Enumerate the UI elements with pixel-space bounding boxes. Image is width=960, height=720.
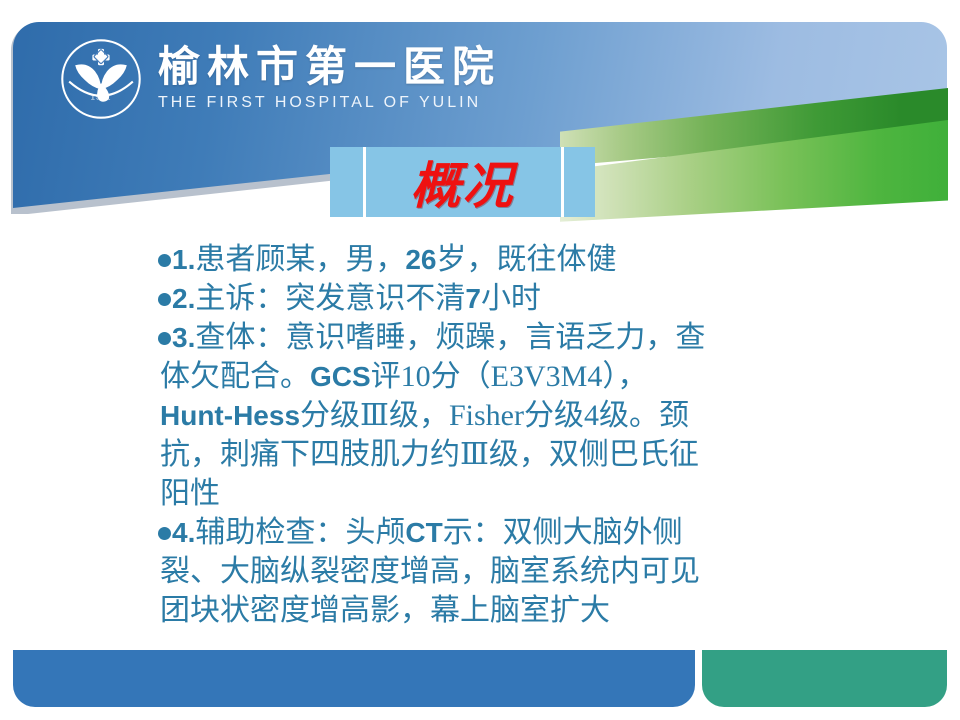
body-latin-segment: 7 bbox=[465, 283, 481, 314]
body-text-segment: 患者顾某，男， bbox=[195, 243, 405, 276]
svg-text:1951: 1951 bbox=[91, 93, 112, 102]
slide-body: 1.患者顾某，男，26岁，既往体健2.主诉：突发意识不清7小时3.查体：意识嗜睡… bbox=[158, 240, 818, 630]
bullet-dot-icon bbox=[158, 254, 171, 267]
body-text-segment: 示：双侧大脑外侧 bbox=[443, 516, 683, 549]
body-bullet-line: 3.查体：意识嗜睡，烦躁，言语乏力，查 bbox=[158, 318, 818, 357]
bullet-dot-icon bbox=[158, 332, 171, 345]
body-text-segment: 主诉：突发意识不清 bbox=[195, 282, 465, 315]
list-number: 4. bbox=[172, 517, 195, 548]
body-bullet-line: 4.辅助检查：头颅CT示：双侧大脑外侧 bbox=[158, 513, 818, 552]
list-number: 2. bbox=[172, 283, 195, 314]
title-divider-left bbox=[363, 147, 366, 217]
list-number: 3. bbox=[172, 322, 195, 353]
body-text-segment: 辅助检查：头颅 bbox=[195, 516, 405, 549]
body-text-segment: 团块状密度增高影，幕上脑室扩大 bbox=[160, 594, 610, 627]
body-bullet-line: 2.主诉：突发意识不清7小时 bbox=[158, 279, 818, 318]
body-latin-segment: CT bbox=[405, 517, 442, 548]
hospital-name-en: THE FIRST HOSPITAL OF YULIN bbox=[158, 95, 501, 111]
body-latin-segment: 26 bbox=[405, 244, 436, 275]
bullet-dot-icon bbox=[158, 293, 171, 306]
body-continuation-line: 体欠配合。GCS评10分（E3V3M4）， bbox=[158, 357, 818, 396]
body-continuation-line: 抗，刺痛下四肢肌力约Ⅲ级，双侧巴氏征 bbox=[158, 435, 818, 474]
footer-bar-teal bbox=[702, 650, 947, 707]
body-text-segment: 查体：意识嗜睡，烦躁，言语乏力，查 bbox=[195, 321, 705, 354]
body-text-segment: 岁，既往体健 bbox=[437, 243, 617, 276]
presentation-slide: 1951 榆林市第一医院 THE FIRST HOSPITAL OF YULIN… bbox=[0, 0, 960, 720]
body-text-segment: 体欠配合。 bbox=[160, 360, 310, 393]
body-continuation-line: Hunt-Hess分级Ⅲ级，Fisher分级4级。颈 bbox=[158, 396, 818, 435]
page-title: 概况 bbox=[411, 146, 515, 218]
body-text-segment: 裂、大脑纵裂密度增高，脑室系统内可见 bbox=[160, 555, 700, 588]
hospital-logo-lockup: 1951 榆林市第一医院 THE FIRST HOSPITAL OF YULIN bbox=[58, 36, 501, 122]
body-continuation-line: 团块状密度增高影，幕上脑室扩大 bbox=[158, 591, 818, 630]
body-latin-segment: Hunt-Hess bbox=[160, 400, 300, 431]
bullet-dot-icon bbox=[158, 527, 171, 540]
body-bullet-line: 1.患者顾某，男，26岁，既往体健 bbox=[158, 240, 818, 279]
body-text-segment: 评10分（E3V3M4）， bbox=[371, 360, 648, 393]
title-divider-right bbox=[561, 147, 564, 217]
body-text-segment: 阳性 bbox=[160, 477, 220, 510]
list-number: 1. bbox=[172, 244, 195, 275]
body-text-segment: 抗，刺痛下四肢肌力约Ⅲ级，双侧巴氏征 bbox=[160, 438, 699, 471]
slide-title-banner: 概况 bbox=[330, 147, 595, 217]
body-text-segment: 分级Ⅲ级，Fisher分级4级。颈 bbox=[300, 399, 689, 432]
hospital-name-block: 榆林市第一医院 THE FIRST HOSPITAL OF YULIN bbox=[158, 47, 501, 111]
body-continuation-line: 阳性 bbox=[158, 474, 818, 513]
body-text-segment: 小时 bbox=[481, 282, 541, 315]
hospital-name-cn: 榆林市第一医院 bbox=[158, 47, 501, 89]
hospital-emblem-icon: 1951 bbox=[58, 36, 144, 122]
body-continuation-line: 裂、大脑纵裂密度增高，脑室系统内可见 bbox=[158, 552, 818, 591]
footer-bar-blue bbox=[13, 650, 695, 707]
body-latin-segment: GCS bbox=[310, 361, 371, 392]
